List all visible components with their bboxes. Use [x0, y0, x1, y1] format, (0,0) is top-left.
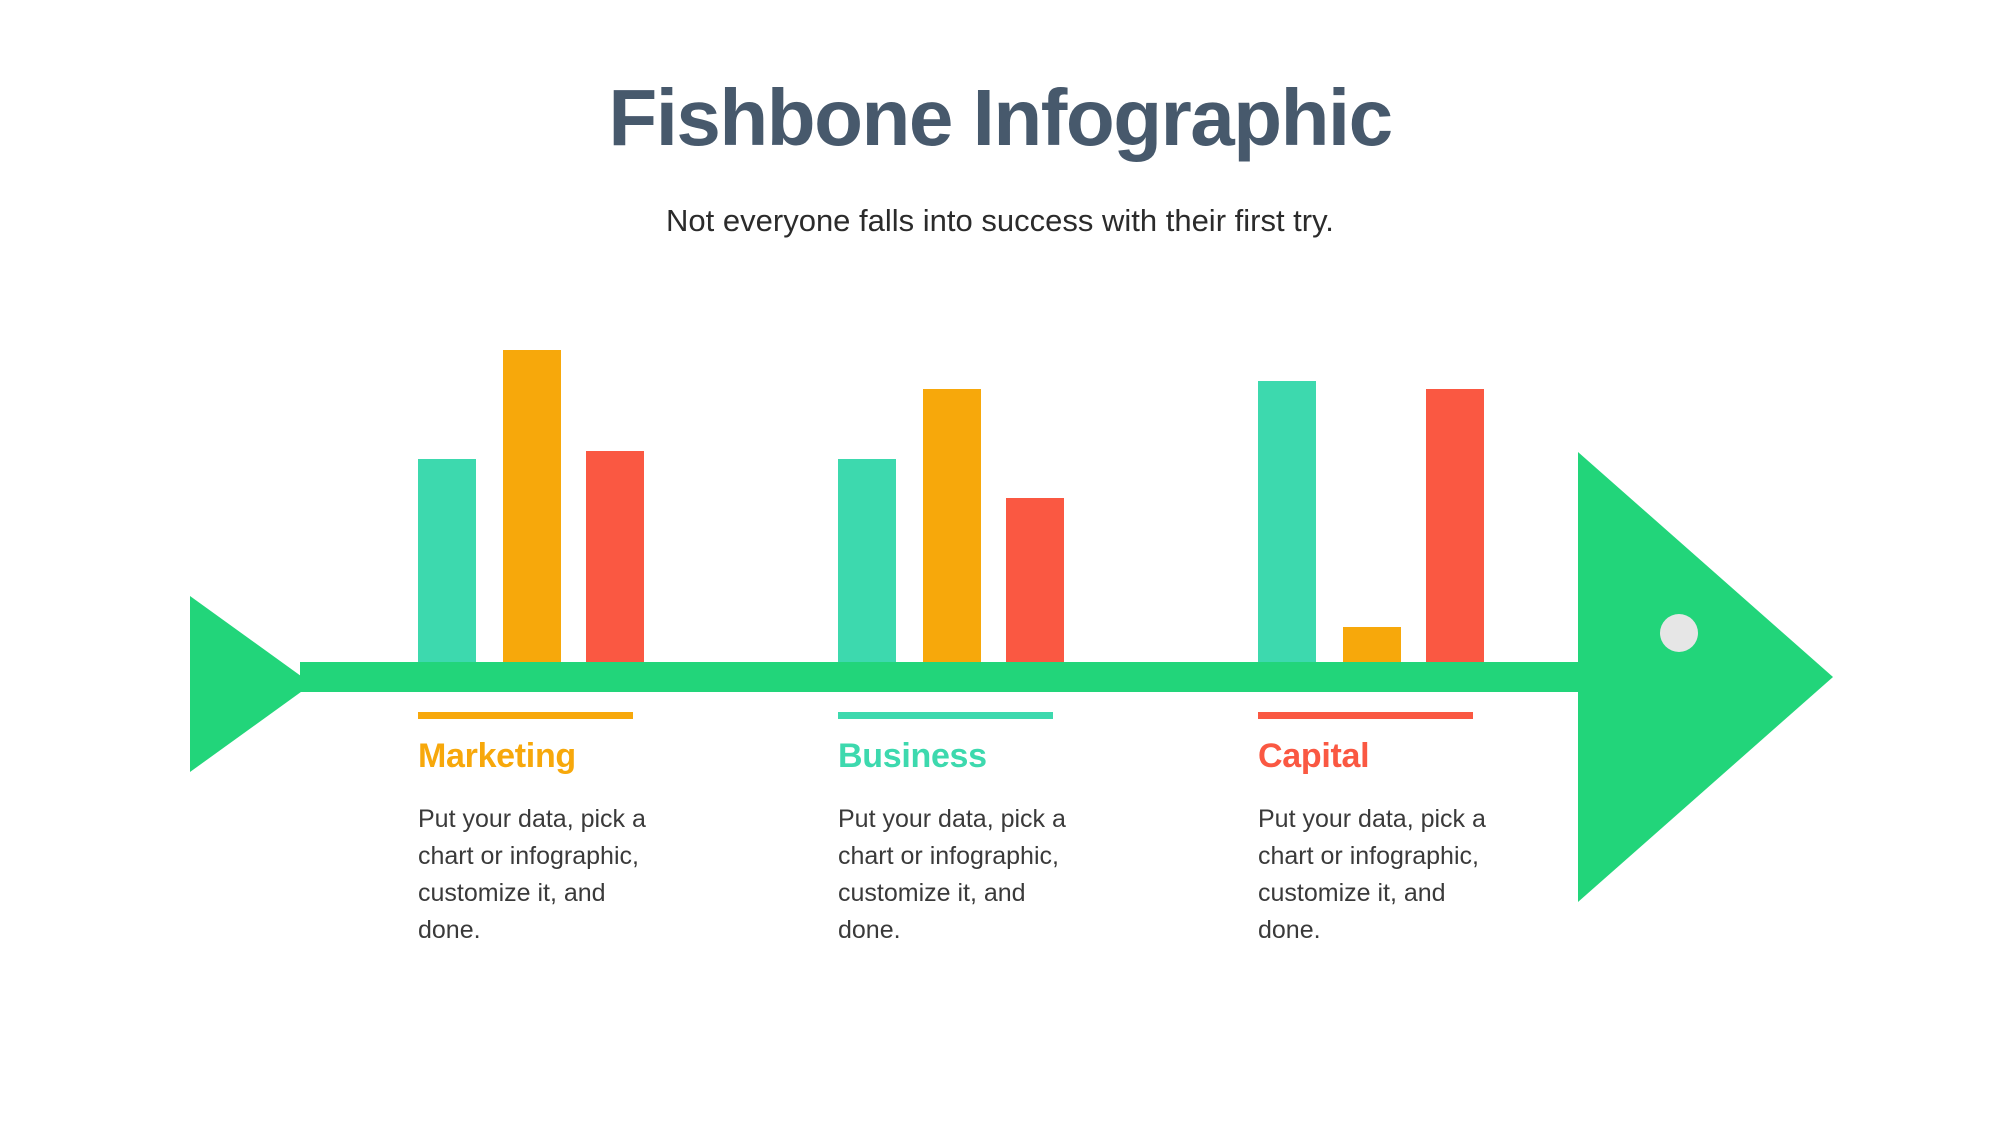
section-marketing[interactable]: Marketing Put your data, pick a chart or… [418, 712, 718, 949]
page-subtitle: Not everyone falls into success with the… [0, 202, 2000, 239]
section-body-capital: Put your data, pick a chart or infograph… [1258, 801, 1493, 949]
section-title-capital: Capital [1258, 739, 1558, 773]
fishbone-spine [300, 662, 1600, 692]
infographic-canvas: Fishbone Infographic Not everyone falls … [0, 0, 2000, 1125]
bar-marketing-teal [418, 459, 476, 662]
section-business[interactable]: Business Put your data, pick a chart or … [838, 712, 1138, 949]
bar-group-business [838, 272, 1138, 662]
section-rule-capital [1258, 712, 1473, 719]
section-body-business: Put your data, pick a chart or infograph… [838, 801, 1073, 949]
bar-capital-teal [1258, 381, 1316, 662]
section-capital[interactable]: Capital Put your data, pick a chart or i… [1258, 712, 1558, 949]
bar-marketing-red [586, 451, 644, 662]
bar-business-red [1006, 498, 1064, 662]
section-body-marketing: Put your data, pick a chart or infograph… [418, 801, 653, 949]
page-title: Fishbone Infographic [0, 78, 2000, 158]
section-title-business: Business [838, 739, 1138, 773]
bar-group-marketing [418, 272, 718, 662]
bar-marketing-orange [503, 350, 561, 662]
arrowhead-right-icon [1578, 452, 1833, 902]
bar-capital-red [1426, 389, 1484, 662]
bar-business-teal [838, 459, 896, 662]
bar-business-orange [923, 389, 981, 662]
bar-capital-orange [1343, 627, 1401, 662]
circle-eye-icon [1660, 614, 1698, 652]
section-rule-business [838, 712, 1053, 719]
section-title-marketing: Marketing [418, 739, 718, 773]
section-rule-marketing [418, 712, 633, 719]
bar-group-capital [1258, 272, 1558, 662]
triangle-right-icon [190, 596, 312, 772]
